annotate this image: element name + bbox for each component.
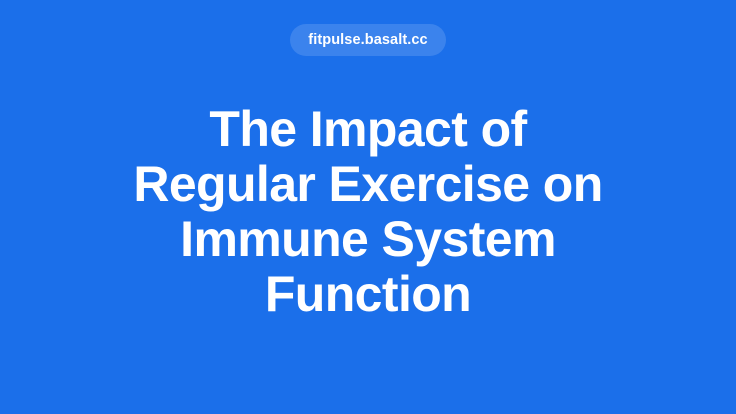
title-line-3: Immune System [68, 212, 668, 267]
title-line-1: The Impact of [68, 102, 668, 157]
title-line-2: Regular Exercise on [68, 157, 668, 212]
page-title: The Impact of Regular Exercise on Immune… [68, 102, 668, 322]
social-share-card: fitpulse.basalt.cc The Impact of Regular… [0, 0, 736, 414]
title-line-4: Function [68, 267, 668, 322]
headline-container: The Impact of Regular Exercise on Immune… [0, 56, 736, 414]
badge-row: fitpulse.basalt.cc [0, 24, 736, 56]
source-domain-badge[interactable]: fitpulse.basalt.cc [290, 24, 445, 56]
